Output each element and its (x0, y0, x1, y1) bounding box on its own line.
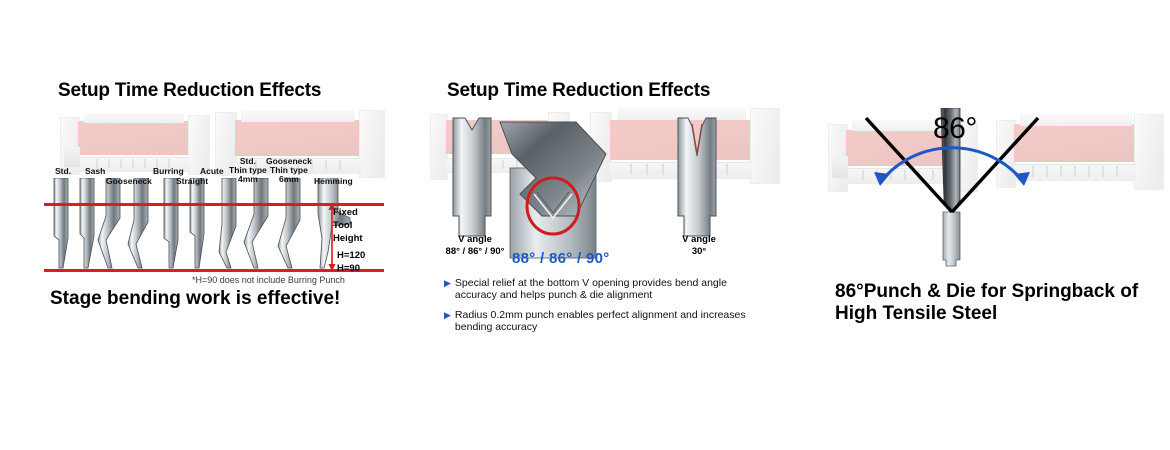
panel-3-caption: 86°Punch & Die for Springback of High Te… (835, 281, 1138, 326)
bullet-item: ▶ Radius 0.2mm punch enables perfect ali… (444, 309, 754, 334)
bullet-text: Special relief at the bottom V opening p… (455, 277, 754, 302)
tool-label-std: Std. (55, 167, 71, 176)
press-brake-photo-left (60, 113, 210, 175)
fixed-tool-height-label: Fixed Tool Height (333, 207, 363, 245)
panel-2-title: Setup Time Reduction Effects (447, 80, 710, 102)
triangle-bullet-icon: ▶ (444, 309, 451, 321)
bullet-text: Radius 0.2mm punch enables perfect align… (455, 309, 754, 334)
tool-label-sash: Sash (85, 167, 105, 176)
tool-label-acute: Acute (200, 167, 224, 176)
tool-label-burring: Burring (153, 167, 184, 176)
triangle-bullet-icon: ▶ (444, 277, 451, 289)
panel-v-opening-detail: Setup Time Reduction Effects (420, 0, 820, 450)
panel-1-footnote: *H=90 does not include Burring Punch (192, 275, 345, 285)
tool-label-gooseneck-thin-6mm: Gooseneck Thin type 6mm (266, 157, 312, 184)
die-narrow-v-30 (670, 112, 724, 240)
panel-1-caption: Stage bending work is effective! (50, 288, 340, 310)
center-v-angle-value: 88° / 86° / 90° (512, 250, 610, 267)
panel-2-bullet-list: ▶ Special relief at the bottom V opening… (444, 277, 754, 341)
tool-label-gooseneck: Gooseneck (106, 177, 152, 186)
bullet-item: ▶ Special relief at the bottom V opening… (444, 277, 754, 302)
panel-86-degree-punch: 86° 86°Punch & Die for Springback of Hig… (820, 0, 1170, 450)
tool-label-hemming: Hemming (314, 177, 353, 186)
panel-setup-time-reduction-tools: Setup Time Reduction Effects (0, 0, 420, 450)
panel-1-title: Setup Time Reduction Effects (58, 80, 321, 102)
tool-label-straight: Straight (176, 177, 208, 186)
slide-canvas: Setup Time Reduction Effects (0, 0, 1170, 450)
v-opening-magnified-detail (490, 120, 620, 260)
angle-value-86: 86° (933, 112, 977, 146)
die-narrow-v-label: V angle 30° (672, 234, 726, 258)
tool-height-values: H=120 H=90 (337, 250, 365, 276)
tool-label-std-thin-4mm: Std. Thin type 4mm (229, 157, 267, 184)
